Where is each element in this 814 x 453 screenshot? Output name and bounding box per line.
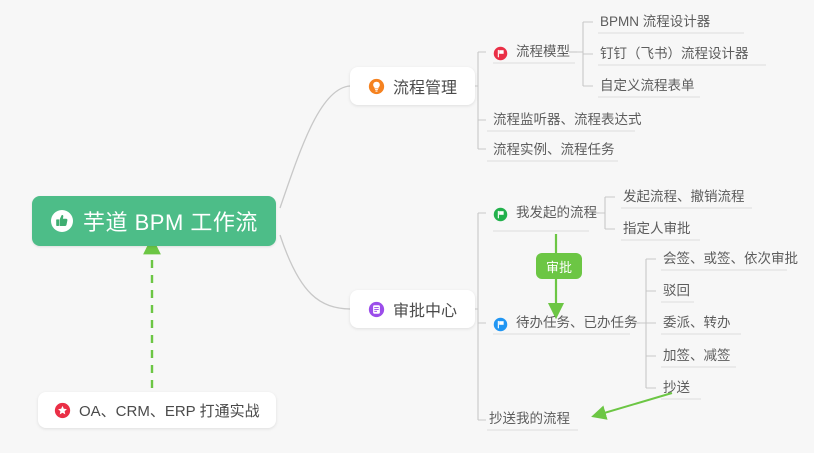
lightbulb-icon — [368, 78, 385, 95]
leaf-countersign[interactable]: 会签、或签、依次审批 — [659, 247, 802, 271]
edge-model-children — [583, 22, 593, 86]
leaf-reject[interactable]: 驳回 — [659, 279, 694, 303]
leaf-label: 抄送 — [663, 381, 690, 398]
flag-icon — [493, 207, 508, 222]
branch-node-process-management[interactable]: 流程管理 — [350, 67, 475, 105]
leaf-label: 驳回 — [663, 284, 690, 301]
node-label: 流程监听器、流程表达式 — [493, 113, 642, 130]
branch-label-approval-center: 审批中心 — [393, 297, 457, 321]
edge-pm-children — [478, 52, 486, 149]
root-label: 芋道 BPM 工作流 — [83, 205, 258, 237]
node-label-my-started: 我发起的流程 — [516, 206, 597, 223]
leaf-bpmn-designer[interactable]: BPMN 流程设计器 — [596, 10, 714, 34]
leaf-label: 委派、转办 — [663, 316, 731, 333]
leaf-label: BPMN 流程设计器 — [600, 15, 710, 32]
leaf-delegate-transfer[interactable]: 委派、转办 — [659, 311, 735, 335]
approval-badge-label: 审批 — [546, 257, 572, 276]
document-icon — [368, 301, 385, 318]
node-todo-done-tasks[interactable]: 待办任务、已办任务 — [489, 311, 642, 335]
integration-card[interactable]: OA、CRM、ERP 打通实战 — [38, 392, 276, 428]
approval-badge[interactable]: 审批 — [536, 253, 582, 279]
leaf-label: 加签、减签 — [663, 349, 731, 366]
leaf-cc[interactable]: 抄送 — [659, 376, 694, 400]
edge-ac-children — [478, 213, 486, 420]
flag-icon — [493, 317, 508, 332]
star-icon — [54, 402, 71, 419]
edge-started-children — [605, 197, 615, 229]
edge-root-to-approval-center — [280, 235, 350, 309]
node-label-process-model: 流程模型 — [516, 45, 570, 62]
edge-root-to-process-management — [280, 86, 350, 208]
root-node[interactable]: 芋道 BPM 工作流 — [32, 196, 276, 246]
thumbs-up-icon — [50, 209, 74, 233]
leaf-custom-form[interactable]: 自定义流程表单 — [596, 74, 699, 98]
leaf-assignee-approval[interactable]: 指定人审批 — [619, 217, 695, 241]
integration-card-label: OA、CRM、ERP 打通实战 — [79, 400, 260, 421]
node-cc-my-processes[interactable]: 抄送我的流程 — [485, 407, 574, 431]
mindmap-canvas: 芋道 BPM 工作流 流程管理 流程模型 BPMN 流程设计器 钉钉（飞书）流程 — [0, 0, 814, 453]
leaf-add-remove-sign[interactable]: 加签、减签 — [659, 344, 735, 368]
node-label-todo-done: 待办任务、已办任务 — [516, 316, 638, 333]
node-process-listener[interactable]: 流程监听器、流程表达式 — [489, 108, 646, 132]
leaf-label: 会签、或签、依次审批 — [663, 252, 798, 269]
branch-node-approval-center[interactable]: 审批中心 — [350, 290, 475, 328]
leaf-launch-cancel[interactable]: 发起流程、撤销流程 — [619, 185, 749, 209]
edge-model-bracket — [577, 22, 583, 86]
leaf-label: 发起流程、撤销流程 — [623, 190, 745, 207]
node-label: 抄送我的流程 — [489, 412, 570, 429]
node-label: 流程实例、流程任务 — [493, 143, 615, 160]
branch-label-process-management: 流程管理 — [393, 74, 457, 98]
node-my-started-processes[interactable]: 我发起的流程 — [489, 201, 601, 225]
flag-icon — [493, 46, 508, 61]
node-process-model[interactable]: 流程模型 — [489, 40, 574, 64]
leaf-label: 钉钉（飞书）流程设计器 — [600, 47, 749, 64]
leaf-label: 指定人审批 — [623, 222, 691, 239]
leaf-label: 自定义流程表单 — [600, 79, 695, 96]
leaf-dingtalk-designer[interactable]: 钉钉（飞书）流程设计器 — [596, 42, 753, 66]
node-process-instance[interactable]: 流程实例、流程任务 — [489, 138, 619, 162]
edge-todo-children — [646, 259, 656, 388]
